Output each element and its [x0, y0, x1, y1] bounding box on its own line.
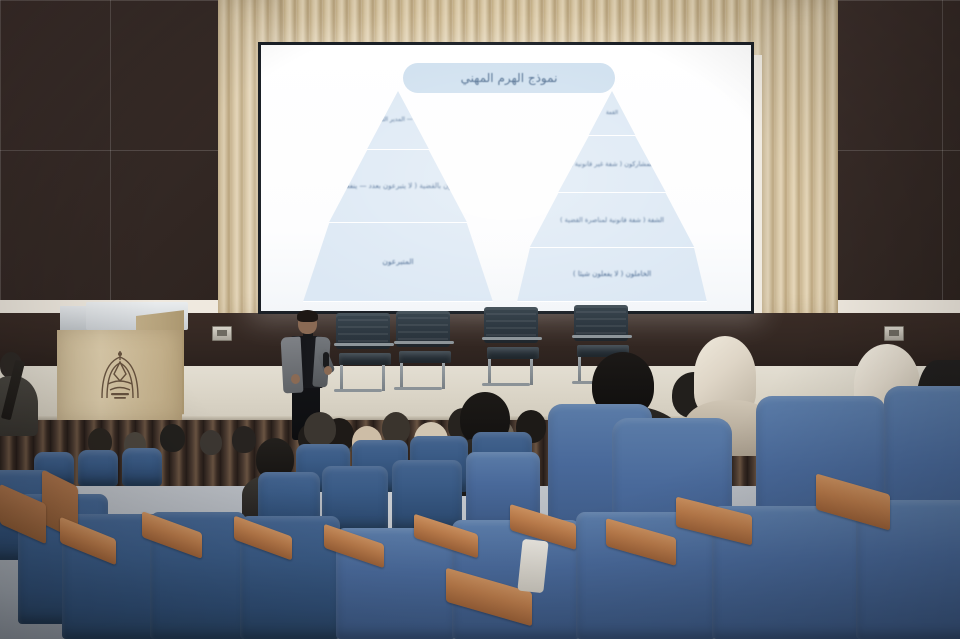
- pyramid-tier: المتبرعون: [303, 223, 493, 302]
- attendee-notebook: [517, 539, 548, 593]
- wall-panel-dark-left: [0, 0, 222, 300]
- attendee-cap: [304, 412, 336, 446]
- wall-wood-slat-right: [762, 0, 838, 320]
- slide-title-text: نموذج الهرم المهني: [461, 71, 558, 85]
- right-pyramid: القمة المشاركون ( شفة غير قانونية ) الشف…: [517, 91, 707, 301]
- pyramid-tier: الخاملون ( لا يفعلون شيئا ): [517, 248, 707, 302]
- presenter-jacket-left: [281, 337, 304, 394]
- pyramid-tier: يؤمنون بالقضية ( لا يتبرعون بعدد — ينفعو…: [303, 150, 493, 223]
- projection-screen-surface: نموذج الهرم المهني القمة — المدير التنفي…: [261, 45, 751, 311]
- chair-seat: [487, 347, 539, 359]
- chair-seat: [339, 353, 391, 365]
- auditorium-seat: [78, 450, 118, 486]
- chair-foot: [482, 383, 530, 386]
- attendee-head: [200, 430, 222, 455]
- attendee-left-edge: [0, 352, 40, 472]
- pyramid-tier: القمة: [517, 91, 707, 136]
- university-emblem-icon: [94, 348, 146, 404]
- chair-arm: [482, 337, 542, 340]
- presenter-hair: [297, 310, 318, 322]
- chair-leg: [442, 363, 445, 389]
- chair-arm: [334, 343, 394, 346]
- pyramid-tier-text: المشاركون ( شفة غير قانونية ): [570, 160, 654, 168]
- pyramid-tier: القمة — المدير التنفيذي: [303, 91, 493, 150]
- chair-foot: [394, 387, 442, 390]
- presenter-hand: [291, 374, 300, 384]
- chair-leg: [400, 363, 403, 389]
- power-outlet: [212, 326, 232, 341]
- pyramid-tier: الشفة ( شفة قانونية لمناصرة القضية ): [517, 193, 707, 248]
- chair-leg: [382, 365, 385, 391]
- chair-arm: [394, 341, 454, 344]
- projection-screen: نموذج الهرم المهني القمة — المدير التنفي…: [258, 42, 754, 314]
- pyramid-tier-text: يؤمنون بالقضية ( لا يتبرعون بعدد — ينفعو…: [333, 182, 464, 191]
- chair-leg: [488, 359, 491, 385]
- pyramid-tier-text: الشفة ( شفة قانونية لمناصرة القضية ): [560, 216, 664, 224]
- chair-arm: [572, 335, 632, 338]
- left-pyramid: القمة — المدير التنفيذي يؤمنون بالقضية (…: [303, 91, 493, 301]
- slide-title-pill: نموذج الهرم المهني: [403, 63, 615, 93]
- chair-leg: [340, 365, 343, 391]
- chair-seat: [399, 351, 451, 363]
- auditorium-photo: نموذج الهرم المهني القمة — المدير التنفي…: [0, 0, 960, 639]
- power-outlet: [884, 326, 904, 341]
- chair-foot: [334, 389, 382, 392]
- wall-panel-dark-right: [832, 0, 960, 300]
- pyramid-tier-text: القمة — المدير التنفيذي: [368, 116, 428, 124]
- pyramid-tier-text: الخاملون ( لا يفعلون شيئا ): [573, 270, 651, 279]
- presenter-hand: [324, 366, 332, 375]
- chair-leg: [530, 359, 533, 385]
- auditorium-seat: [122, 448, 162, 486]
- pyramid-tier-text: المتبرعون: [382, 257, 413, 266]
- attendee-head: [160, 424, 185, 452]
- pyramid-tier: المشاركون ( شفة غير قانونية ): [517, 136, 707, 193]
- pyramid-tier-text: القمة: [606, 110, 618, 117]
